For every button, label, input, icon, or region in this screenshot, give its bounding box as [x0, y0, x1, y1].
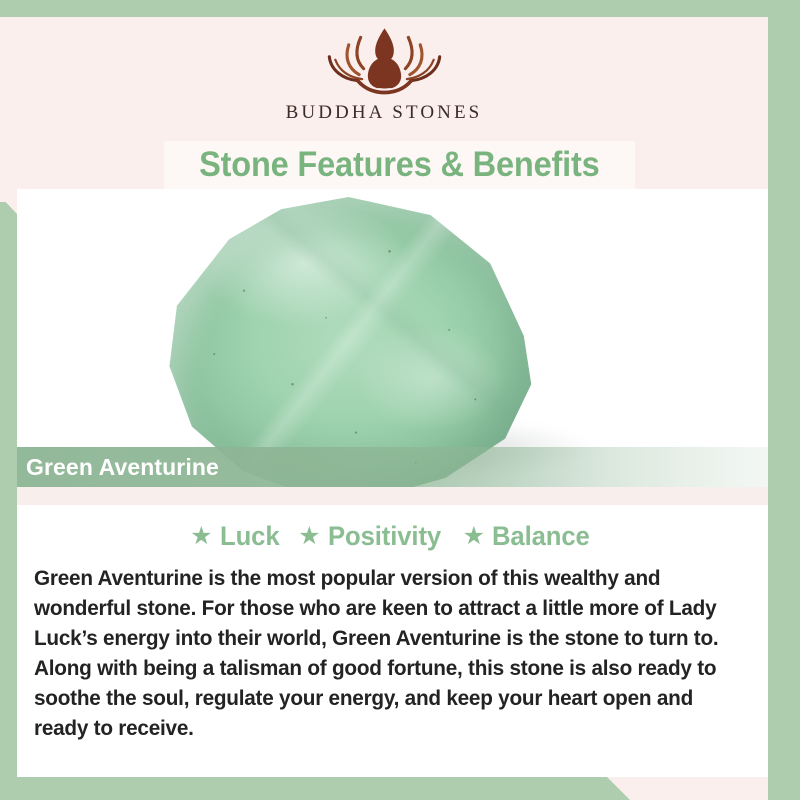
star-icon: ★	[298, 524, 320, 549]
stone-speckle-texture	[162, 197, 535, 487]
content-panel: ★ Luck ★ Positivity ★ Balance Green Aven…	[17, 505, 768, 765]
section-divider	[17, 487, 768, 505]
content-panel-bottom-edge	[17, 765, 768, 777]
brand-wordmark: BUDDHA STONES	[286, 102, 483, 124]
star-icon: ★	[463, 524, 485, 549]
benefit-item-balance: ★ Balance	[463, 521, 595, 552]
stone-info-poster: BUDDHA STONES Stone Features & Benefits …	[0, 0, 800, 800]
benefit-label: Balance	[492, 521, 590, 552]
stone-photo	[17, 189, 768, 487]
lotus-meditation-figure-icon	[302, 18, 467, 100]
benefit-item-positivity: ★ Positivity	[298, 521, 446, 552]
stone-name-band: Green Aventurine	[17, 447, 768, 487]
frame-left-band	[0, 196, 17, 800]
brand-logo: BUDDHA STONES	[0, 18, 768, 138]
benefits-list: ★ Luck ★ Positivity ★ Balance	[17, 521, 768, 552]
star-icon: ★	[190, 524, 212, 549]
frame-top-band	[0, 0, 800, 17]
page-title-band: Stone Features & Benefits	[164, 141, 635, 189]
page-title: Stone Features & Benefits	[199, 145, 600, 185]
stone-name: Green Aventurine	[26, 454, 219, 481]
stone-description: Green Aventurine is the most popular ver…	[34, 563, 738, 744]
benefit-item-luck: ★ Luck	[190, 521, 282, 552]
frame-right-band	[768, 0, 800, 800]
benefit-label: Luck	[220, 521, 279, 552]
benefit-label: Positivity	[328, 521, 441, 552]
stone-image-wrapper	[17, 189, 768, 487]
